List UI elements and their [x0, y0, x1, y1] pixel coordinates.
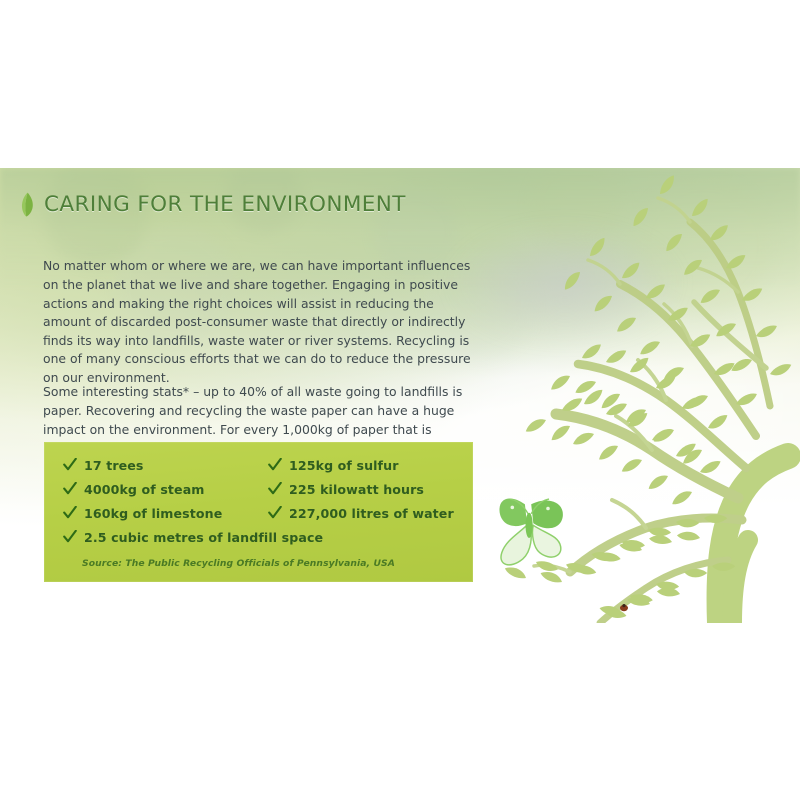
stat-label: 227,000 litres of water	[289, 506, 454, 521]
stat-item: 17 trees	[63, 456, 144, 473]
stats-box: 17 trees4000kg of steam160kg of limeston…	[44, 442, 473, 582]
stat-item: 2.5 cubic metres of landfill space	[63, 528, 323, 545]
stat-label: 17 trees	[84, 458, 144, 473]
page-canvas: CARING FOR THE ENVIRONMENT No matter who…	[0, 0, 800, 800]
slide-artwork-area: CARING FOR THE ENVIRONMENT No matter who…	[0, 168, 800, 623]
check-icon	[268, 506, 282, 520]
stat-item: 125kg of sulfur	[268, 456, 399, 473]
check-icon	[63, 506, 77, 520]
text-content: CARING FOR THE ENVIRONMENT No matter who…	[0, 168, 500, 623]
intro-paragraph: No matter whom or where we are, we can h…	[43, 257, 471, 387]
leaf-icon	[20, 192, 35, 217]
check-icon	[63, 530, 77, 544]
check-icon	[63, 482, 77, 496]
stat-label: 225 kilowatt hours	[289, 482, 424, 497]
stat-item: 225 kilowatt hours	[268, 480, 424, 497]
stat-label: 125kg of sulfur	[289, 458, 399, 473]
check-icon	[268, 458, 282, 472]
page-title: CARING FOR THE ENVIRONMENT	[44, 192, 406, 217]
stat-label: 160kg of limestone	[84, 506, 222, 521]
stat-label: 4000kg of steam	[84, 482, 205, 497]
page-heading: CARING FOR THE ENVIRONMENT	[20, 192, 406, 217]
check-icon	[63, 458, 77, 472]
stat-item: 4000kg of steam	[63, 480, 205, 497]
stat-item: 160kg of limestone	[63, 504, 222, 521]
stat-label: 2.5 cubic metres of landfill space	[84, 530, 323, 545]
stats-source: Source: The Public Recycling Officials o…	[82, 558, 395, 569]
check-icon	[268, 482, 282, 496]
stat-item: 227,000 litres of water	[268, 504, 454, 521]
